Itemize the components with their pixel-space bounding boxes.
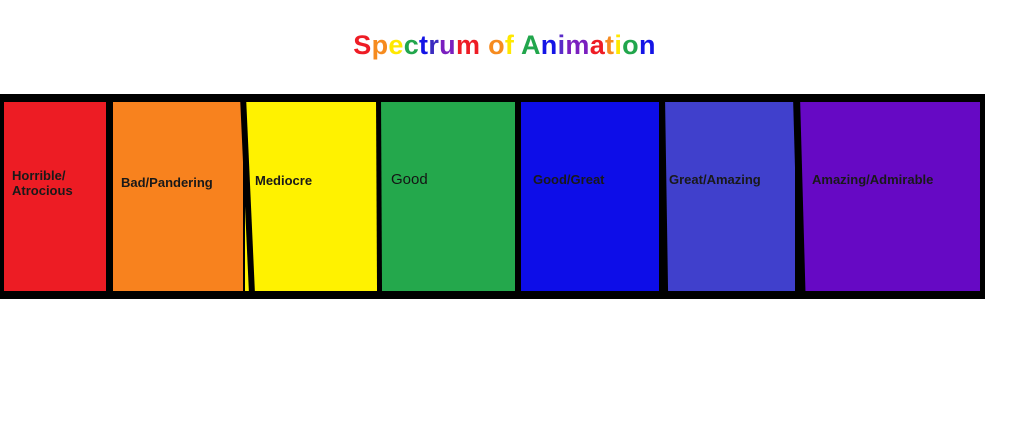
- spectrum-divider: [515, 96, 521, 297]
- spectrum-segment-label: Bad/Pandering: [121, 175, 213, 190]
- spectrum-segment[interactable]: Good: [380, 102, 515, 291]
- spectrum-segment[interactable]: Mediocre: [245, 102, 377, 291]
- spectrum-segment-label: Mediocre: [255, 173, 312, 188]
- spectrum-divider: [107, 96, 113, 297]
- title-letter: t: [419, 30, 428, 60]
- spectrum-segment[interactable]: Good/Great: [521, 102, 659, 291]
- title-letter: u: [439, 30, 456, 60]
- title-letter: a: [590, 30, 605, 60]
- title-letter: [480, 30, 488, 60]
- title-letter: c: [404, 30, 419, 60]
- title-letter: n: [541, 30, 558, 60]
- spectrum-segment[interactable]: Great/Amazing: [665, 102, 795, 291]
- spectrum-segment-label: Good/Great: [533, 172, 605, 187]
- title-letter: [514, 30, 521, 60]
- title-letter: n: [639, 30, 656, 60]
- page-title: Spectrum of Animation: [0, 28, 1009, 62]
- title-letter: o: [622, 30, 639, 60]
- title-letter: r: [428, 30, 439, 60]
- title-letter: i: [614, 30, 622, 60]
- spectrum-segment[interactable]: Amazing/Admirable: [800, 102, 980, 291]
- title-letter: p: [372, 30, 389, 60]
- title-letter: S: [353, 30, 371, 60]
- title-letter: m: [565, 30, 589, 60]
- spectrum-segment-label: Great/Amazing: [669, 172, 761, 187]
- title-letter: t: [605, 30, 614, 60]
- title-letter: A: [521, 30, 541, 60]
- title-letter: o: [488, 30, 505, 60]
- title-letter: f: [505, 30, 514, 60]
- spectrum-segment-label: Horrible/ Atrocious: [12, 168, 73, 198]
- title-letter: m: [456, 30, 480, 60]
- spectrum-bar: Horrible/ AtrociousBad/PanderingMediocre…: [0, 94, 985, 299]
- spectrum-segment[interactable]: Horrible/ Atrocious: [4, 102, 106, 291]
- spectrum-segment[interactable]: Bad/Pandering: [113, 102, 243, 291]
- spectrum-segment-label: Amazing/Admirable: [812, 172, 933, 187]
- spectrum-segment-label: Good: [391, 172, 428, 187]
- spectrum-divider: [376, 96, 382, 297]
- title-letter: e: [388, 30, 403, 60]
